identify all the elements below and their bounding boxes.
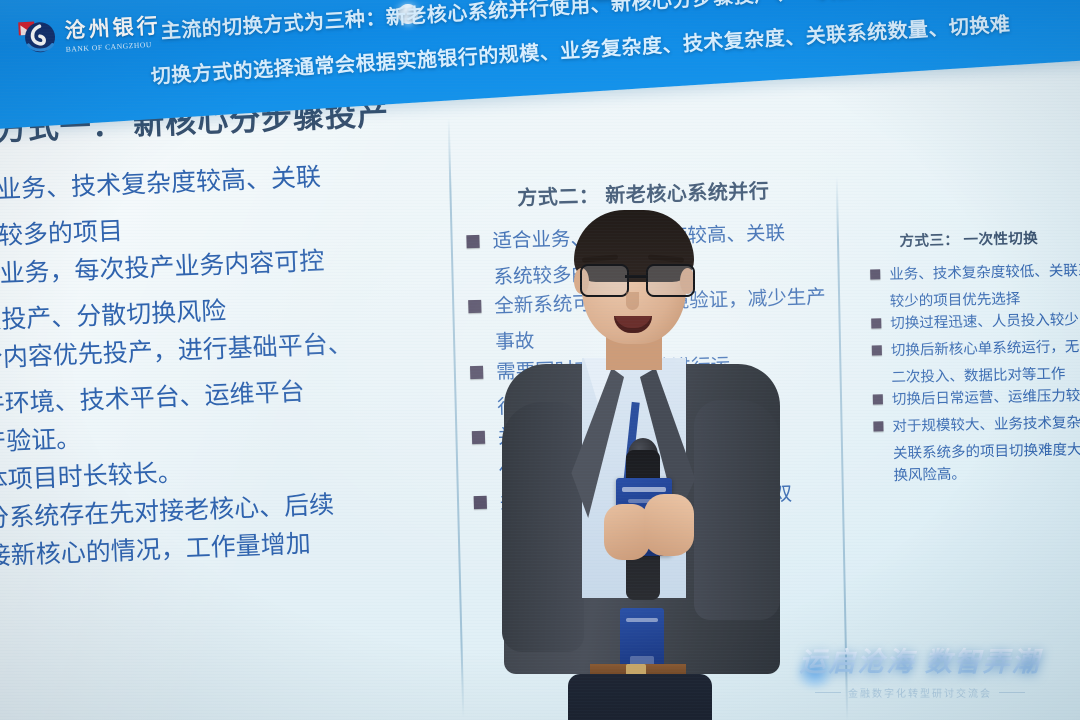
bullet-text: 业务、技术复杂度较低、关联系统	[889, 260, 1080, 287]
bullet-text: 适合业务、技术复杂度较高、关联	[0, 158, 322, 211]
bullet-square-icon	[873, 421, 883, 431]
glasses-bridge	[625, 275, 646, 278]
column-method-three: 方式三： 一次性切换 业务、技术复杂度较低、关联系统 较少的项目优先选择 切换过…	[863, 225, 1080, 487]
mic-flag-line-1	[622, 487, 666, 492]
right-arm	[694, 400, 780, 620]
bullet-square-icon	[470, 365, 483, 378]
bullet-item: 切换过程迅速、人员投入较少	[865, 308, 1080, 335]
bullet-text: 切换后日常运营、运维压力较小	[892, 385, 1080, 411]
lens-left	[580, 264, 629, 297]
event-subtitle: 金融数字化转型研讨交流会	[848, 685, 992, 700]
bullet-text: 切换过程迅速、人员投入较少	[890, 309, 1079, 335]
rule-right	[999, 692, 1025, 693]
column-heading: 方式三： 一次性切换	[863, 225, 1080, 251]
event-slogan: 运启沧海 数智弄潮	[770, 640, 1070, 679]
eyeglasses-icon	[578, 264, 694, 294]
bank-name-cn: 沧州银行	[64, 15, 161, 41]
lens-right	[646, 264, 695, 297]
bullet-item: 业务、技术复杂度较低、关联系统	[864, 259, 1080, 286]
trousers	[568, 674, 712, 720]
bullet-square-icon	[466, 235, 479, 248]
column-method-one: 方式一： 新核心分步骤投产 适合业务、技术复杂度较高、关联 系统较多的项目 拆分…	[0, 86, 461, 577]
bullet-text: 换风险高。	[868, 461, 1080, 488]
bullet-square-icon	[871, 318, 881, 328]
bullet-item: 对于规模较大、业务技术复杂、	[867, 412, 1080, 439]
photo-frame: 方式一： 新核心分步骤投产 适合业务、技术复杂度较高、关联 系统较多的项目 拆分…	[0, 0, 1080, 720]
bullet-text: 对于规模较大、业务技术复杂、	[892, 412, 1080, 438]
bullet-square-icon	[472, 431, 485, 444]
bank-logo-mark-icon	[17, 17, 59, 59]
bullet-square-icon	[872, 345, 882, 355]
bullet-square-icon	[468, 300, 481, 313]
column-heading: 方式二： 新老核心系统并行	[457, 173, 843, 213]
left-arm	[502, 402, 584, 652]
bullet-item: 切换后新核心单系统运行，无需	[866, 335, 1080, 362]
bullet-square-icon	[474, 496, 487, 509]
event-subtitle-row: 金融数字化转型研讨交流会	[770, 685, 1070, 700]
hand-right	[644, 494, 694, 556]
bullet-text: 切换后新核心单系统运行，无需	[891, 336, 1080, 362]
bullet-continuation: 关联系统多的项目切换难度大，切	[868, 439, 1080, 466]
bank-logo: 沧州银行 BANK OF CANGZHOU	[17, 7, 179, 64]
badge-line	[626, 618, 658, 622]
event-watermark: 运启沧海 数智弄潮 金融数字化转型研讨交流会	[770, 640, 1070, 700]
bullet-square-icon	[870, 269, 880, 279]
bullet-item: 切换后日常运营、运维压力较小	[867, 385, 1080, 412]
speaker-figure	[498, 212, 788, 720]
nose	[626, 292, 639, 310]
rule-left	[815, 692, 841, 693]
bullet-square-icon	[873, 394, 883, 404]
